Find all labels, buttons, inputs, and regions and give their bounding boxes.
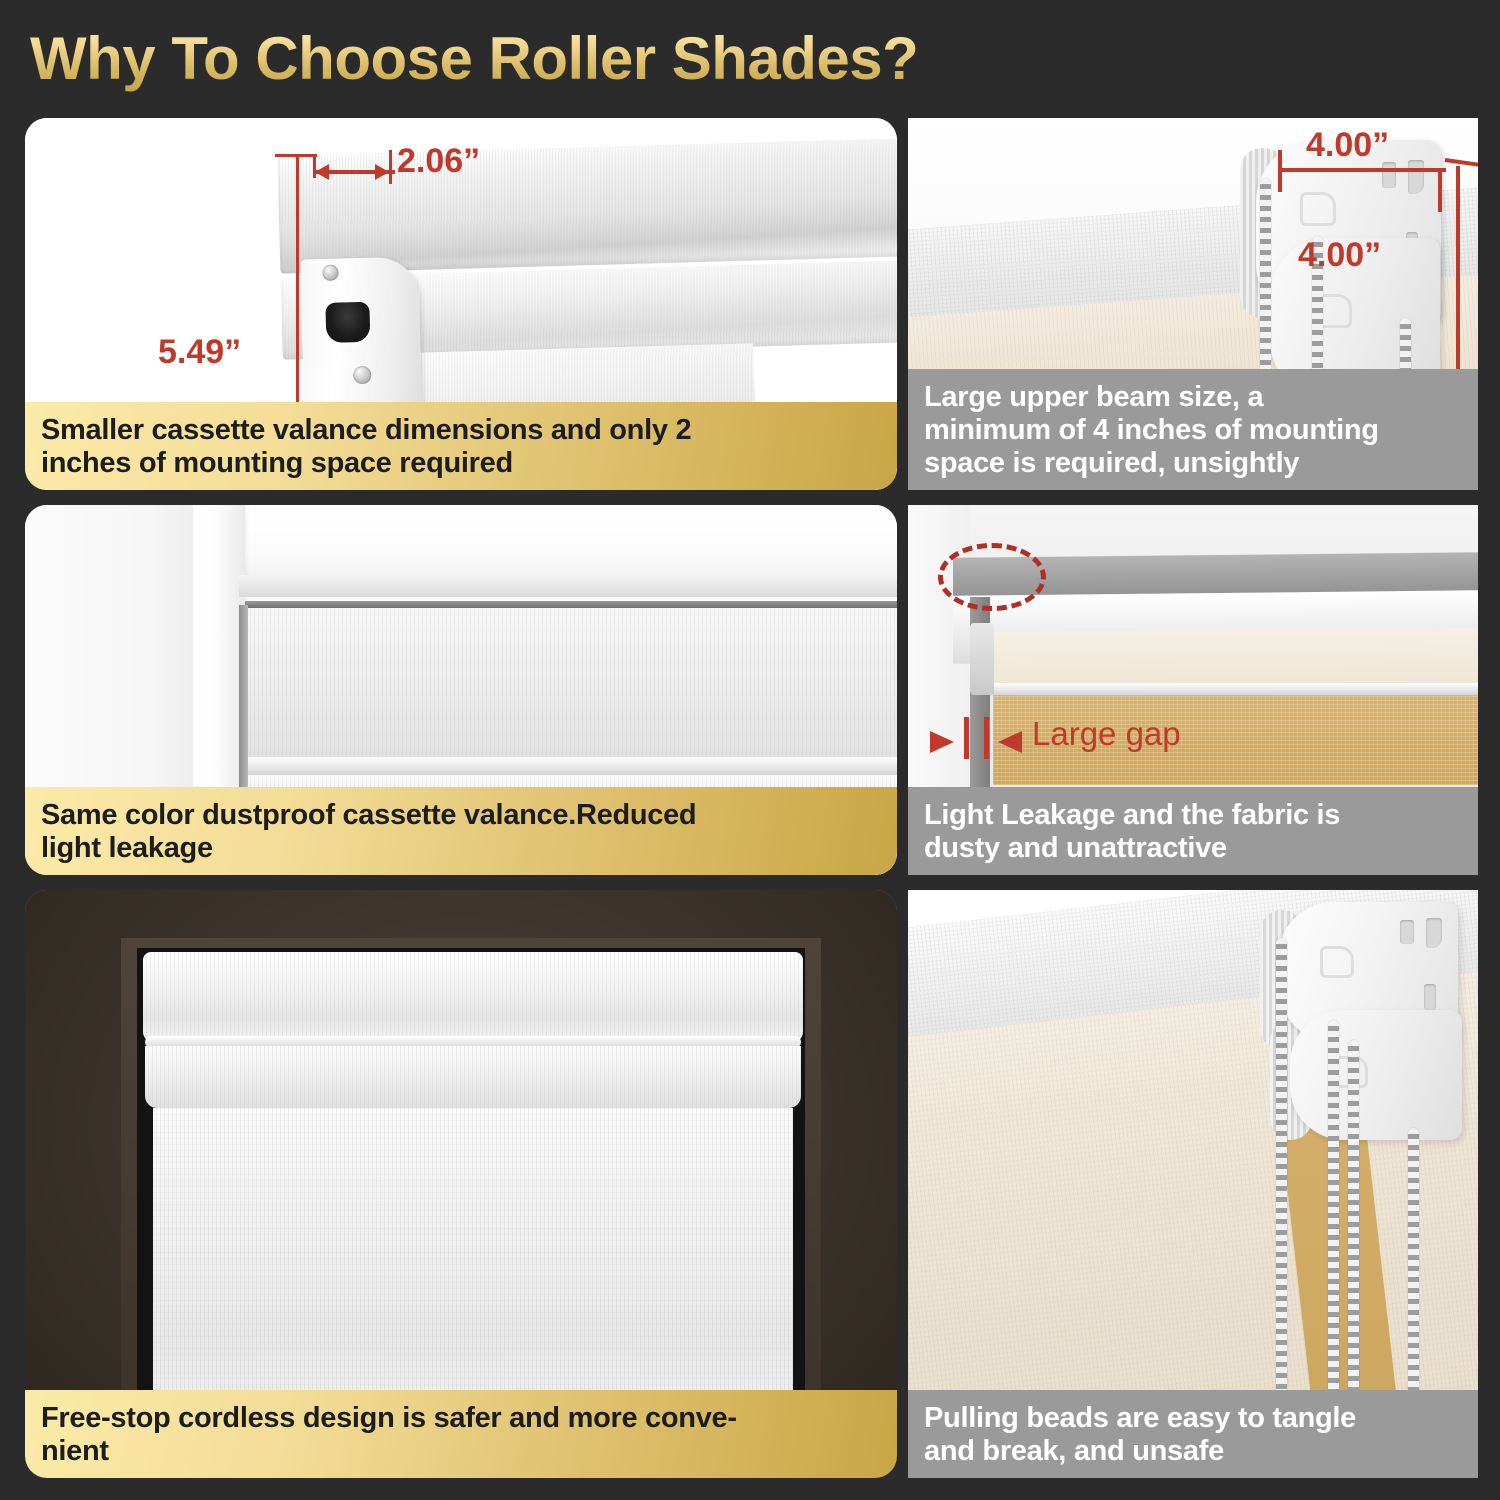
beam-width-tick-right	[1438, 170, 1442, 212]
width-dim-tick-right	[389, 150, 392, 184]
caption-line: Smaller cassette valance dimensions and …	[41, 414, 881, 447]
caption-line: Large upper beam size, a	[924, 381, 1462, 414]
beam-height-label: 4.00”	[1298, 236, 1381, 275]
bracket-emboss-upper	[1300, 192, 1336, 226]
large-gap-label: Large gap	[1032, 715, 1181, 753]
bracket-emboss-upper	[1320, 946, 1354, 978]
caption-line: Same color dustproof cassette valance.Re…	[41, 799, 881, 832]
caption-line: light leakage	[41, 832, 881, 865]
fabric-rail	[986, 683, 1478, 695]
gap-arrow-right	[998, 731, 1022, 753]
bracket-slot-b	[1408, 160, 1424, 194]
caption-line: minimum of 4 inches of mounting	[924, 414, 1462, 447]
panel-4-caption: Light Leakage and the fabric is dusty an…	[908, 787, 1478, 875]
cassette-headrail	[143, 952, 803, 1042]
panel-1-caption: Smaller cassette valance dimensions and …	[25, 402, 897, 490]
panel-pulling-beads: Pulling beads are easy to tangle and bre…	[908, 890, 1478, 1478]
corner-highlight-ellipse	[938, 543, 1046, 611]
panel-cordless-design: Free-stop cordless design is safer and m…	[25, 890, 897, 1478]
roller-shade-fabric	[153, 1108, 793, 1438]
gap-tick-b	[984, 717, 989, 759]
caption-line: Light Leakage and the fabric is	[924, 799, 1462, 832]
gap-tick-a	[964, 717, 969, 759]
panel-5-caption: Free-stop cordless design is safer and m…	[25, 1390, 897, 1478]
valance-bottom-rail	[243, 757, 897, 777]
caption-line: Free-stop cordless design is safer and m…	[41, 1402, 881, 1435]
cream-fabric-band	[986, 628, 1478, 689]
bracket-slot-c	[1424, 984, 1436, 1010]
end-cap-screw-middle	[353, 366, 371, 384]
panel-2-caption: Large upper beam size, a minimum of 4 in…	[908, 369, 1478, 490]
width-dim-arrow-right	[375, 164, 389, 180]
width-dimension-label: 2.06”	[397, 142, 480, 181]
panel-6-caption: Pulling beads are easy to tangle and bre…	[908, 1390, 1478, 1478]
side-bracket	[970, 623, 994, 695]
panel-large-upper-beam: 4.00” 4.00” Large upper beam size, a min…	[908, 118, 1478, 490]
bracket-slot-a	[1382, 162, 1396, 188]
bracket-slot-a	[1400, 920, 1414, 944]
panel-dustproof-valance: smaller gap Same color dustproof cassett…	[25, 505, 897, 875]
valance-upper-shell	[277, 136, 897, 273]
mounting-bracket-lower	[1290, 1010, 1462, 1140]
headrail-lower-valance	[145, 1046, 801, 1108]
beam-width-line	[1278, 168, 1446, 172]
valance-face	[247, 608, 897, 760]
end-cap-spindle-hole	[325, 302, 370, 343]
caption-line: space is required, unsightly	[924, 447, 1462, 480]
caption-line: inches of mounting space required	[41, 447, 881, 480]
width-dim-arrow-left	[315, 164, 329, 180]
caption-line: and break, and unsafe	[924, 1435, 1462, 1468]
panel-3-caption: Same color dustproof cassette valance.Re…	[25, 787, 897, 875]
height-dim-tick-top	[275, 154, 317, 157]
caption-line: nient	[41, 1435, 881, 1468]
caption-line: Pulling beads are easy to tangle	[924, 1402, 1462, 1435]
caption-line: dusty and unattractive	[924, 832, 1462, 865]
window-frame-inner-lip	[239, 575, 897, 597]
height-dimension-label: 5.49”	[158, 333, 241, 372]
page-title: Why To Choose Roller Shades?	[30, 20, 1130, 98]
bracket-slot-b	[1426, 918, 1442, 948]
panel-smaller-cassette: 2.06” 5.49” Smaller cassette valance dim…	[25, 118, 897, 490]
panel-light-leakage: Large gap Light Leakage and the fabric i…	[908, 505, 1478, 875]
beam-width-label: 4.00”	[1306, 126, 1389, 165]
end-cap-screw-top	[322, 265, 338, 281]
gap-arrow-left	[930, 731, 954, 753]
valance-seam-line	[245, 601, 897, 608]
